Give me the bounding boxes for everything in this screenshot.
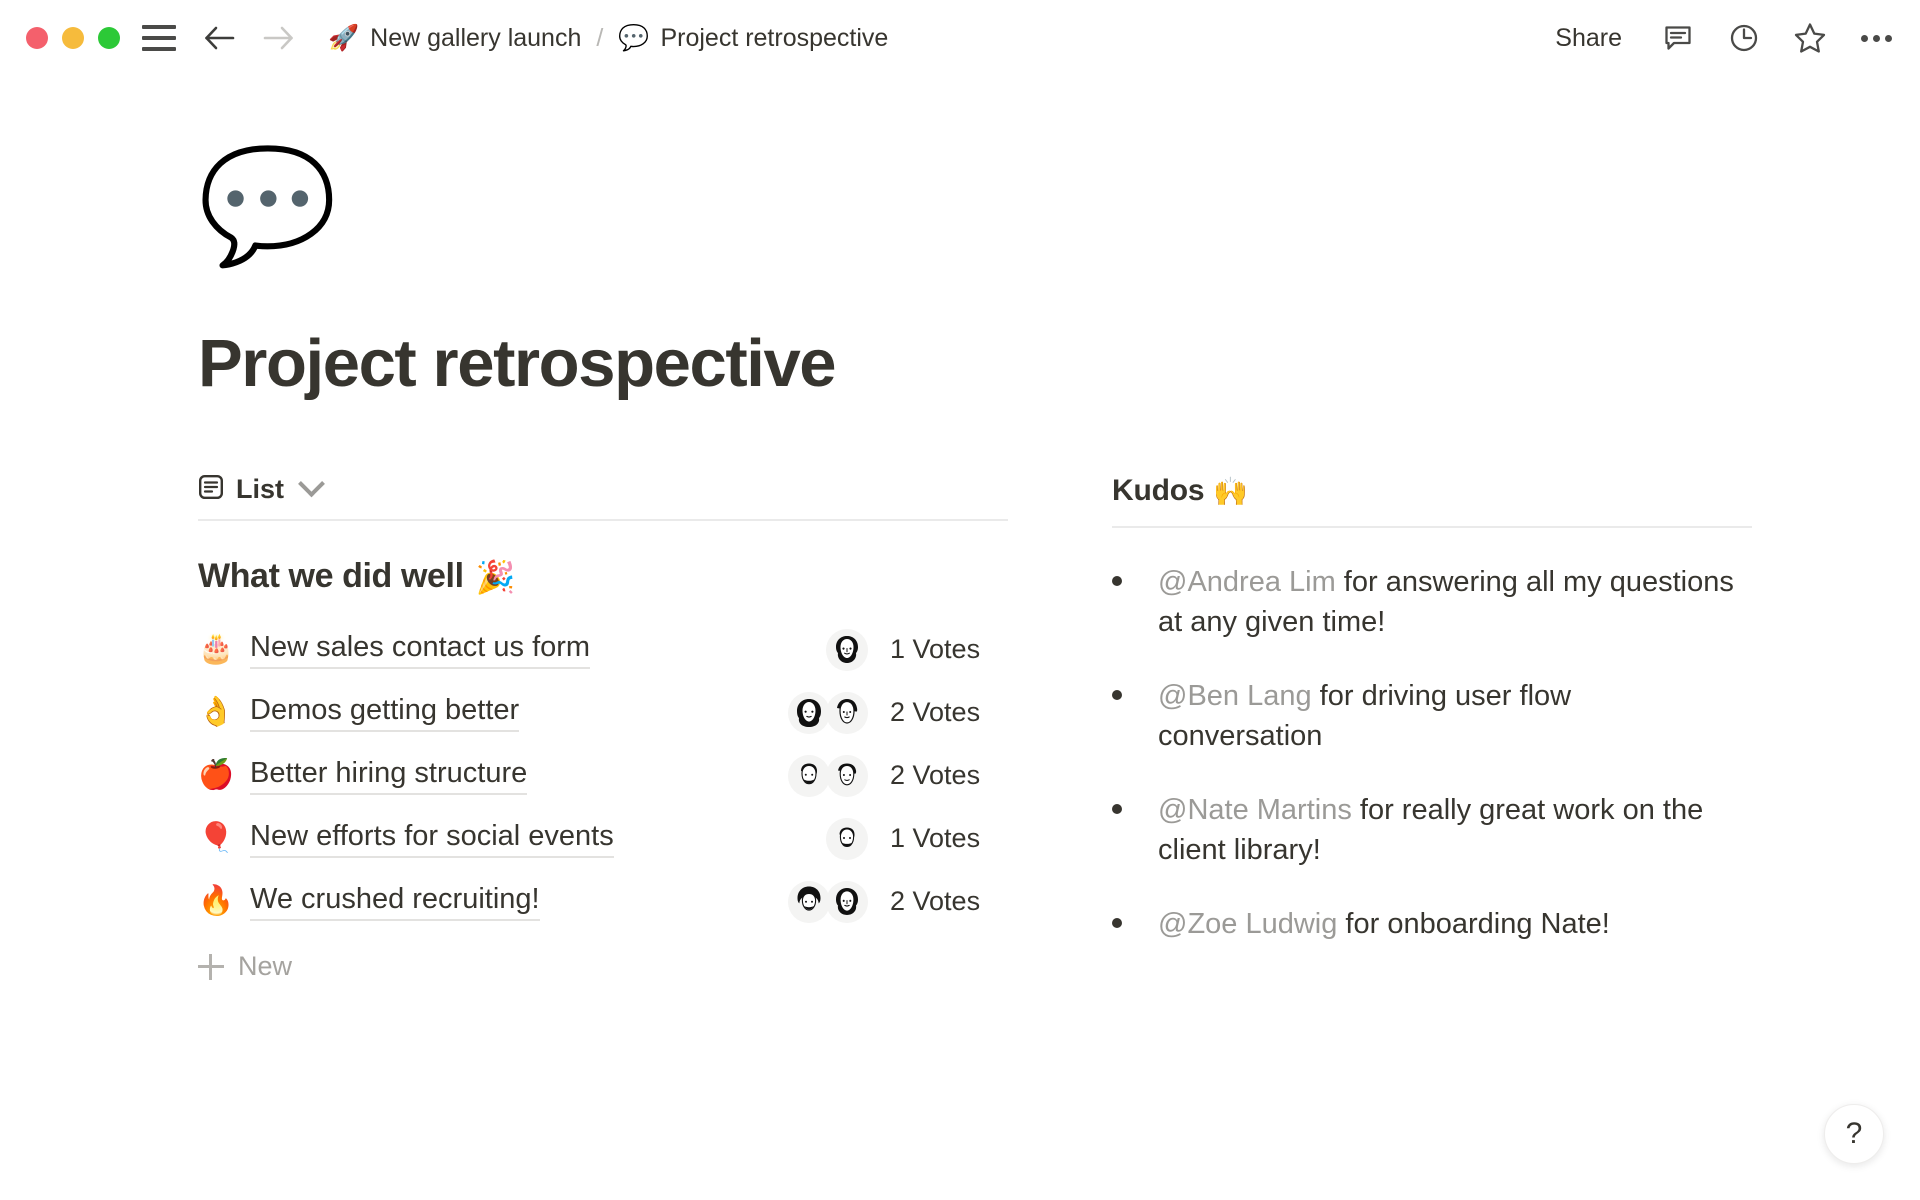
list-rows: 🎂 New sales contact us form — [198, 618, 1008, 933]
list-item-title[interactable]: New efforts for social events — [250, 820, 614, 858]
raising-hands-icon: 🙌 — [1213, 475, 1248, 508]
rocket-icon: 🚀 — [328, 26, 359, 51]
breadcrumb-item-parent[interactable]: 🚀 New gallery launch — [322, 21, 587, 56]
page-icon[interactable]: 💬 — [198, 131, 348, 281]
forward-arrow-icon[interactable] — [260, 20, 296, 56]
help-button[interactable]: ? — [1824, 1104, 1884, 1164]
list-item[interactable]: @Nate Martins for really great work on t… — [1112, 790, 1752, 870]
comment-icon[interactable] — [1660, 20, 1696, 56]
party-popper-icon: 🎉 — [476, 558, 515, 596]
list-database-column: List What we did well 🎉 🎂 New sales cont… — [198, 474, 1008, 982]
list-section-title-text: What we did well — [198, 557, 464, 596]
back-arrow-icon[interactable] — [202, 20, 238, 56]
list-item[interactable]: 🔥 We crushed recruiting! — [198, 870, 1008, 933]
kudos-text: @Nate Martins for really great work on t… — [1158, 790, 1738, 870]
vote-count: 1 Votes — [890, 634, 1008, 665]
navigation-arrows — [202, 20, 296, 56]
window-zoom-button[interactable] — [98, 27, 120, 49]
vote-count: 2 Votes — [890, 697, 1008, 728]
row-meta: 2 Votes — [776, 881, 1008, 923]
hamburger-line — [142, 25, 176, 29]
row-meta: 1 Votes — [776, 818, 1008, 860]
vote-count: 2 Votes — [890, 760, 1008, 791]
bullet-icon — [1112, 562, 1158, 586]
breadcrumb-parent-label: New gallery launch — [370, 24, 581, 53]
view-tab-list[interactable]: List — [198, 474, 321, 505]
row-meta: 1 Votes — [776, 629, 1008, 671]
more-dot — [1885, 35, 1892, 42]
kudos-divider — [1112, 526, 1752, 528]
row-meta: 2 Votes — [776, 755, 1008, 797]
avatar[interactable] — [826, 692, 868, 734]
list-item[interactable]: @Zoe Ludwig for onboarding Nate! — [1112, 904, 1752, 944]
chevron-down-icon[interactable] — [298, 470, 325, 497]
voter-avatars — [776, 755, 868, 797]
breadcrumb-current-label: Project retrospective — [660, 24, 888, 53]
avatar[interactable] — [788, 755, 830, 797]
bullet-icon — [1112, 904, 1158, 928]
hamburger-line — [142, 36, 176, 40]
more-options-icon[interactable] — [1858, 20, 1894, 56]
bullet-icon — [1112, 676, 1158, 700]
voter-avatars — [776, 818, 868, 860]
list-item[interactable]: @Andrea Lim for answering all my questio… — [1112, 562, 1752, 642]
avatar[interactable] — [826, 881, 868, 923]
voter-avatars — [776, 881, 868, 923]
page-toolbar: Share — [1547, 0, 1894, 76]
breadcrumb: 🚀 New gallery launch / 💬 Project retrosp… — [322, 21, 894, 56]
list-item[interactable]: 👌 Demos getting better — [198, 681, 1008, 744]
mention[interactable]: @Andrea Lim — [1158, 566, 1336, 598]
avatar[interactable] — [826, 818, 868, 860]
list-item[interactable]: 🎈 New efforts for social events — [198, 807, 1008, 870]
list-item[interactable]: @Ben Lang for driving user flow conversa… — [1112, 676, 1752, 756]
kudos-list: @Andrea Lim for answering all my questio… — [1112, 562, 1752, 944]
kudos-text: @Zoe Ludwig for onboarding Nate! — [1158, 904, 1610, 944]
bullet-icon — [1112, 790, 1158, 814]
list-item[interactable]: 🍎 Better hiring structure — [198, 744, 1008, 807]
kudos-text: @Ben Lang for driving user flow conversa… — [1158, 676, 1738, 756]
list-item-title[interactable]: Demos getting better — [250, 694, 519, 732]
kudos-heading-text: Kudos — [1112, 474, 1204, 508]
vote-count: 1 Votes — [890, 823, 1008, 854]
row-emoji-icon: 👌 — [198, 698, 250, 727]
list-item-title[interactable]: Better hiring structure — [250, 757, 527, 795]
list-view-icon — [198, 474, 224, 505]
share-button[interactable]: Share — [1547, 20, 1630, 57]
window-controls — [26, 27, 120, 49]
window-close-button[interactable] — [26, 27, 48, 49]
kudos-column: Kudos 🙌 @Andrea Lim for answering all my… — [1112, 474, 1752, 978]
mention[interactable]: @Nate Martins — [1158, 794, 1352, 826]
add-new-label: New — [238, 951, 292, 982]
list-item-title[interactable]: New sales contact us form — [250, 631, 590, 669]
vote-count: 2 Votes — [890, 886, 1008, 917]
row-emoji-icon: 🔥 — [198, 887, 250, 916]
voter-avatars — [776, 629, 868, 671]
voter-avatars — [776, 692, 868, 734]
view-label: List — [236, 474, 284, 505]
avatar[interactable] — [826, 755, 868, 797]
speech-balloon-icon: 💬 — [618, 26, 649, 51]
list-item[interactable]: 🎂 New sales contact us form — [198, 618, 1008, 681]
sidebar-toggle-icon[interactable] — [142, 25, 176, 51]
page-title[interactable]: Project retrospective — [198, 325, 1820, 402]
view-selector-bar: List — [198, 474, 1008, 519]
more-dot — [1873, 35, 1880, 42]
page-content: 💬 Project retrospective List — [0, 131, 1920, 982]
avatar[interactable] — [826, 629, 868, 671]
kudos-body: for onboarding Nate! — [1337, 908, 1609, 940]
row-emoji-icon: 🎈 — [198, 824, 250, 853]
row-emoji-icon: 🍎 — [198, 761, 250, 790]
hamburger-line — [142, 47, 176, 51]
row-meta: 2 Votes — [776, 692, 1008, 734]
star-icon[interactable] — [1792, 20, 1828, 56]
avatar[interactable] — [788, 881, 830, 923]
history-clock-icon[interactable] — [1726, 20, 1762, 56]
add-new-row-button[interactable]: New — [198, 951, 1008, 982]
breadcrumb-separator: / — [587, 24, 612, 53]
content-columns: List What we did well 🎉 🎂 New sales cont… — [198, 474, 1820, 982]
more-dot — [1861, 35, 1868, 42]
list-section-title[interactable]: What we did well 🎉 — [198, 557, 1008, 596]
kudos-heading[interactable]: Kudos 🙌 — [1112, 474, 1752, 508]
breadcrumb-item-current[interactable]: 💬 Project retrospective — [612, 21, 894, 56]
row-emoji-icon: 🎂 — [198, 635, 250, 664]
plus-icon — [198, 954, 224, 980]
kudos-text: @Andrea Lim for answering all my questio… — [1158, 562, 1738, 642]
window-minimize-button[interactable] — [62, 27, 84, 49]
titlebar: 🚀 New gallery launch / 💬 Project retrosp… — [0, 0, 1920, 76]
mention[interactable]: @Ben Lang — [1158, 680, 1312, 712]
avatar[interactable] — [788, 692, 830, 734]
list-item-title[interactable]: We crushed recruiting! — [250, 883, 540, 921]
view-divider — [198, 519, 1008, 521]
mention[interactable]: @Zoe Ludwig — [1158, 908, 1337, 940]
